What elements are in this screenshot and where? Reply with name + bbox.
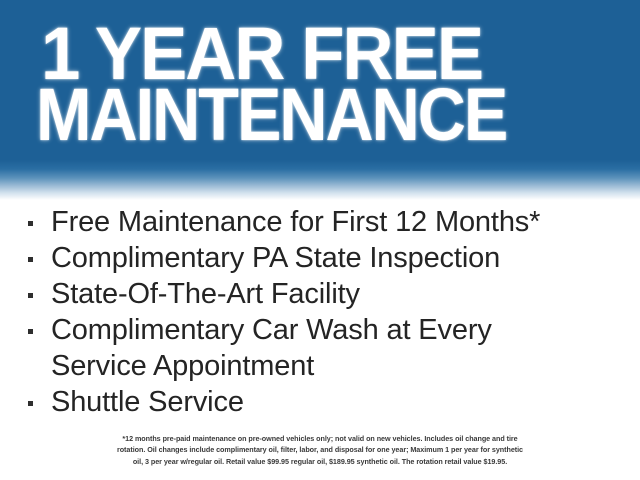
- headline-line-2: MAINTENANCE: [36, 78, 506, 152]
- disclaimer-line: oil, 3 per year w/regular oil. Retail va…: [40, 456, 600, 467]
- list-item-continuation: Service Appointment: [0, 348, 640, 384]
- benefits-list: Free Maintenance for First 12 Months* Co…: [0, 204, 640, 420]
- square-bullet-icon: [28, 329, 33, 334]
- disclaimer-line: rotation. Oil changes include compliment…: [40, 444, 600, 455]
- list-item-label: Complimentary PA State Inspection: [51, 240, 500, 276]
- disclaimer-line: *12 months pre-paid maintenance on pre-o…: [40, 433, 600, 444]
- list-item-label: Service Appointment: [51, 348, 314, 384]
- square-bullet-icon: [28, 257, 33, 262]
- list-item: Complimentary Car Wash at Every: [0, 312, 640, 348]
- square-bullet-icon: [28, 221, 33, 226]
- list-item: Free Maintenance for First 12 Months*: [0, 204, 640, 240]
- square-bullet-icon: [28, 293, 33, 298]
- list-item-label: State-Of-The-Art Facility: [51, 276, 360, 312]
- square-bullet-icon: [28, 401, 33, 406]
- hero-banner: 1 YEAR FREE MAINTENANCE: [0, 0, 640, 200]
- list-item: Complimentary PA State Inspection: [0, 240, 640, 276]
- list-item-label: Complimentary Car Wash at Every: [51, 312, 492, 348]
- list-item-label: Shuttle Service: [51, 384, 244, 420]
- list-item: Shuttle Service: [0, 384, 640, 420]
- disclaimer: *12 months pre-paid maintenance on pre-o…: [40, 433, 600, 467]
- list-item: State-Of-The-Art Facility: [0, 276, 640, 312]
- list-item-label: Free Maintenance for First 12 Months*: [51, 204, 540, 240]
